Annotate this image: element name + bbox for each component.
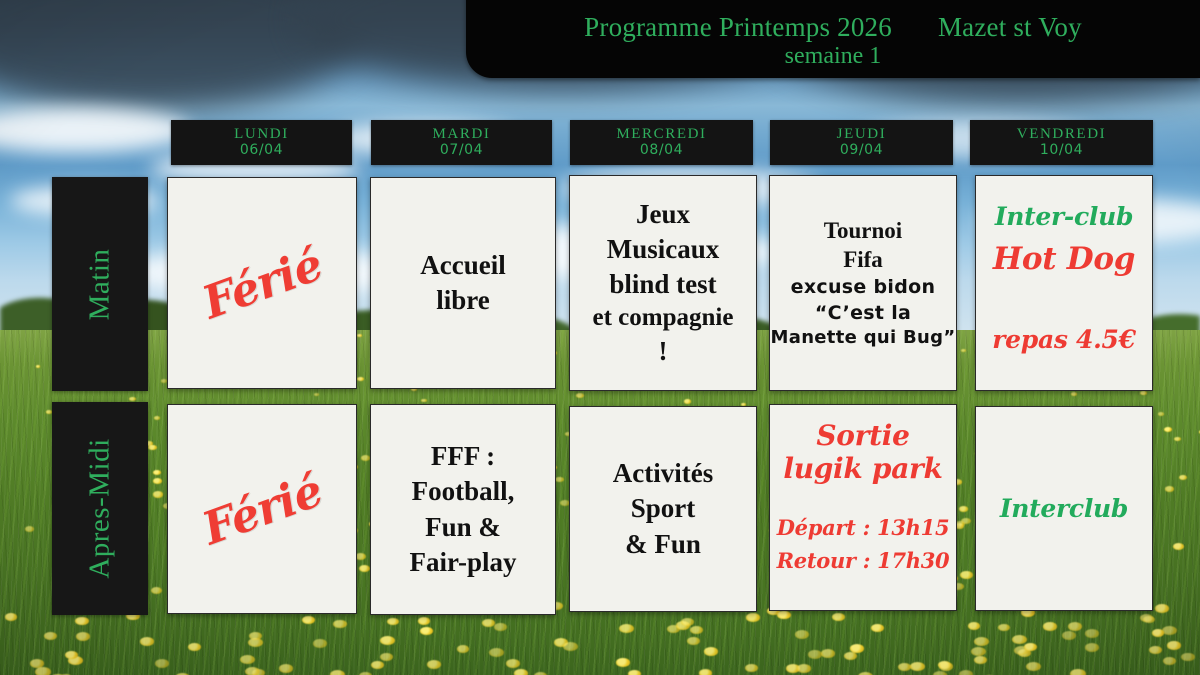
cell-matin-jeudi[interactable]: Tournoi Fifa excuse bidon “C’est la Mane… bbox=[769, 175, 957, 391]
activity-line: Jeux bbox=[636, 197, 690, 232]
activity-line: Sortie bbox=[816, 419, 909, 452]
day-header-mardi: MARDI 07/04 bbox=[371, 120, 552, 165]
activity-line: Hot Dog bbox=[993, 241, 1135, 277]
cell-matin-mardi[interactable]: Accueil libre bbox=[370, 177, 556, 389]
activity-line: lugik park bbox=[783, 452, 942, 485]
day-name: MARDI bbox=[432, 126, 490, 142]
activity-line: ! bbox=[659, 334, 668, 369]
row-label-text: Matin bbox=[84, 248, 117, 320]
activity-line: Fun & bbox=[425, 510, 501, 545]
day-date: 08/04 bbox=[640, 142, 683, 159]
activity-line: Interclub bbox=[1000, 494, 1128, 523]
activity-line: Musicaux bbox=[607, 232, 720, 267]
activity-line: Football, bbox=[412, 474, 515, 509]
return-time: Retour : 17h30 bbox=[777, 548, 950, 573]
activity-line: Fifa bbox=[843, 245, 883, 275]
row-label-text: Apres-Midi bbox=[84, 438, 117, 578]
activity-line: & Fun bbox=[625, 527, 701, 562]
day-name: VENDREDI bbox=[1017, 126, 1106, 142]
row-label-matin: Matin bbox=[52, 177, 148, 391]
activity-line: Manette qui Bug” bbox=[771, 326, 956, 350]
activity-line: Inter-club bbox=[995, 202, 1133, 231]
day-name: JEUDI bbox=[837, 126, 887, 142]
title-banner: Programme Printemps 2026 Mazet st Voy se… bbox=[466, 0, 1200, 78]
cell-apresmidi-mardi[interactable]: FFF : Football, Fun & Fair-play bbox=[370, 404, 556, 615]
day-name: LUNDI bbox=[234, 126, 289, 142]
day-header-mercredi: MERCREDI 08/04 bbox=[570, 120, 753, 165]
cell-apresmidi-lundi[interactable]: Férié bbox=[167, 404, 357, 614]
page-title: Programme Printemps 2026 bbox=[584, 12, 892, 42]
departure-time: Départ : 13h15 bbox=[777, 515, 950, 540]
day-header-vendredi: VENDREDI 10/04 bbox=[970, 120, 1153, 165]
activity-line: blind test bbox=[609, 267, 716, 302]
activity-line: Tournoi bbox=[824, 216, 902, 246]
ferie-label: Férié bbox=[195, 237, 328, 329]
activity-line: Sport bbox=[631, 491, 696, 526]
cell-matin-lundi[interactable]: Férié bbox=[167, 177, 357, 389]
activity-line: Fair-play bbox=[410, 545, 517, 580]
cell-matin-mercredi[interactable]: Jeux Musicaux blind test et compagnie ! bbox=[569, 175, 757, 391]
day-header-jeudi: JEUDI 09/04 bbox=[770, 120, 953, 165]
location-title: Mazet st Voy bbox=[938, 12, 1082, 42]
cell-matin-vendredi[interactable]: Inter-club Hot Dog repas 4.5€ bbox=[975, 175, 1153, 391]
ferie-label: Férié bbox=[195, 463, 328, 555]
activity-line: et compagnie bbox=[593, 302, 734, 335]
poster-canvas: Programme Printemps 2026 Mazet st Voy se… bbox=[0, 0, 1200, 675]
activity-line: “C’est la bbox=[815, 301, 911, 326]
activity-line: Activités bbox=[613, 456, 713, 491]
day-name: MERCREDI bbox=[616, 126, 706, 142]
day-date: 07/04 bbox=[440, 142, 483, 159]
cell-apresmidi-vendredi[interactable]: Interclub bbox=[975, 406, 1153, 611]
row-label-apres-midi: Apres-Midi bbox=[52, 402, 148, 615]
activity-line: libre bbox=[436, 283, 490, 318]
day-date: 06/04 bbox=[240, 142, 283, 159]
day-date: 09/04 bbox=[840, 142, 883, 159]
title-line: Programme Printemps 2026 Mazet st Voy bbox=[584, 12, 1082, 42]
meal-price: repas 4.5€ bbox=[992, 325, 1135, 354]
cell-apresmidi-jeudi[interactable]: Sortie lugik park Départ : 13h15 Retour … bbox=[769, 404, 957, 611]
activity-line: excuse bidon bbox=[791, 275, 936, 300]
day-date: 10/04 bbox=[1040, 142, 1083, 159]
week-subtitle: semaine 1 bbox=[785, 42, 882, 71]
activity-line: Accueil bbox=[420, 248, 505, 283]
cell-apresmidi-mercredi[interactable]: Activités Sport & Fun bbox=[569, 406, 757, 612]
activity-line: FFF : bbox=[431, 439, 495, 474]
day-header-lundi: LUNDI 06/04 bbox=[171, 120, 352, 165]
